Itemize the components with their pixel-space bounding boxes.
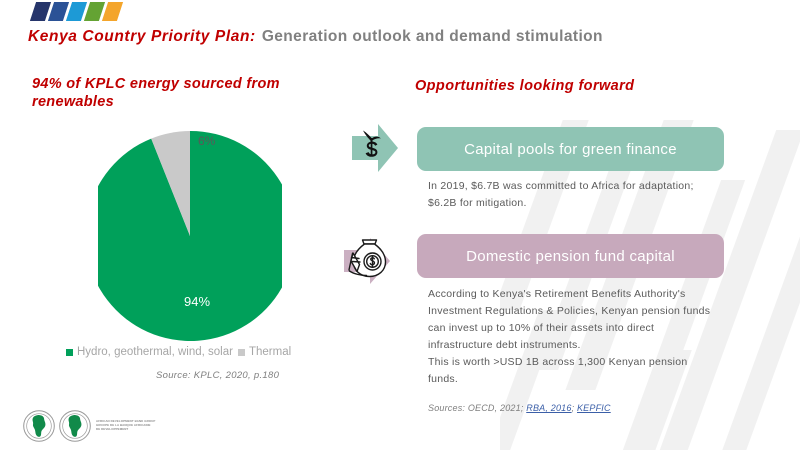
legend-item-renewables: Hydro, geothermal, wind, solar bbox=[66, 346, 233, 358]
legend-label-thermal: Thermal bbox=[249, 346, 291, 358]
pie-label-thermal: 6% bbox=[198, 134, 215, 148]
brand-color-bars-logo bbox=[33, 2, 120, 21]
body-text-green-finance: In 2019, $6.7B was committed to Africa f… bbox=[428, 178, 718, 212]
left-section-heading: 94% of KPLC energy sourced from renewabl… bbox=[32, 75, 332, 111]
pie-chart-svg bbox=[98, 118, 282, 344]
slide-title-highlight: Kenya Country Priority Plan: bbox=[28, 28, 256, 45]
card-capital-pools-green-finance[interactable]: Capital pools for green finance bbox=[417, 127, 724, 171]
legend-swatch-renewables bbox=[66, 349, 73, 356]
sources-note-pension-fund: Sources: OECD, 2021; RBA, 2016; KEPFIC bbox=[428, 403, 611, 413]
dollar-plant-glyph bbox=[352, 122, 400, 174]
legend-swatch-thermal bbox=[238, 349, 245, 356]
card-domestic-pension-fund-capital[interactable]: Domestic pension fund capital bbox=[417, 234, 724, 278]
afdb-emblem-icon-2 bbox=[58, 409, 92, 443]
slide-canvas: Kenya Country Priority Plan:Generation o… bbox=[0, 0, 800, 450]
source-link-kepfic[interactable]: KEPFIC bbox=[577, 403, 611, 413]
card-label-green-finance: Capital pools for green finance bbox=[464, 141, 677, 158]
money-bag-rocking-chair-glyph bbox=[340, 232, 398, 290]
pie-legend: Hydro, geothermal, wind, solar Thermal bbox=[66, 346, 291, 358]
afdb-logo-text-fr2: DE DEVELOPPEMENT bbox=[96, 428, 155, 432]
legend-item-thermal: Thermal bbox=[238, 346, 291, 358]
card-label-pension-fund: Domestic pension fund capital bbox=[466, 248, 675, 265]
sources-prefix: Sources: OECD, 2021; bbox=[428, 403, 526, 413]
slide-title: Kenya Country Priority Plan:Generation o… bbox=[28, 28, 603, 46]
afdb-footer-logo: AFRICAN DEVELOPMENT BANK GROUP GROUPE DE… bbox=[22, 409, 155, 443]
right-section-heading: Opportunities looking forward bbox=[415, 78, 634, 94]
pension-money-bag-icon bbox=[340, 232, 398, 290]
pie-chart: 6% 94% bbox=[98, 118, 282, 344]
body-text-pension-fund: According to Kenya's Retirement Benefits… bbox=[428, 286, 720, 388]
afdb-logo-wordmark: AFRICAN DEVELOPMENT BANK GROUP GROUPE DE… bbox=[96, 420, 155, 432]
pie-source-note: Source: KPLC, 2020, p.180 bbox=[156, 370, 279, 381]
slide-title-rest: Generation outlook and demand stimulatio… bbox=[262, 28, 603, 45]
source-link-rba[interactable]: RBA, 2016 bbox=[526, 403, 571, 413]
legend-label-renewables: Hydro, geothermal, wind, solar bbox=[77, 346, 233, 358]
afdb-emblem-icon-1 bbox=[22, 409, 56, 443]
logo-bar-orange bbox=[102, 2, 123, 21]
pie-label-renewables: 94% bbox=[184, 294, 210, 309]
dollar-sprout-icon bbox=[352, 122, 400, 174]
